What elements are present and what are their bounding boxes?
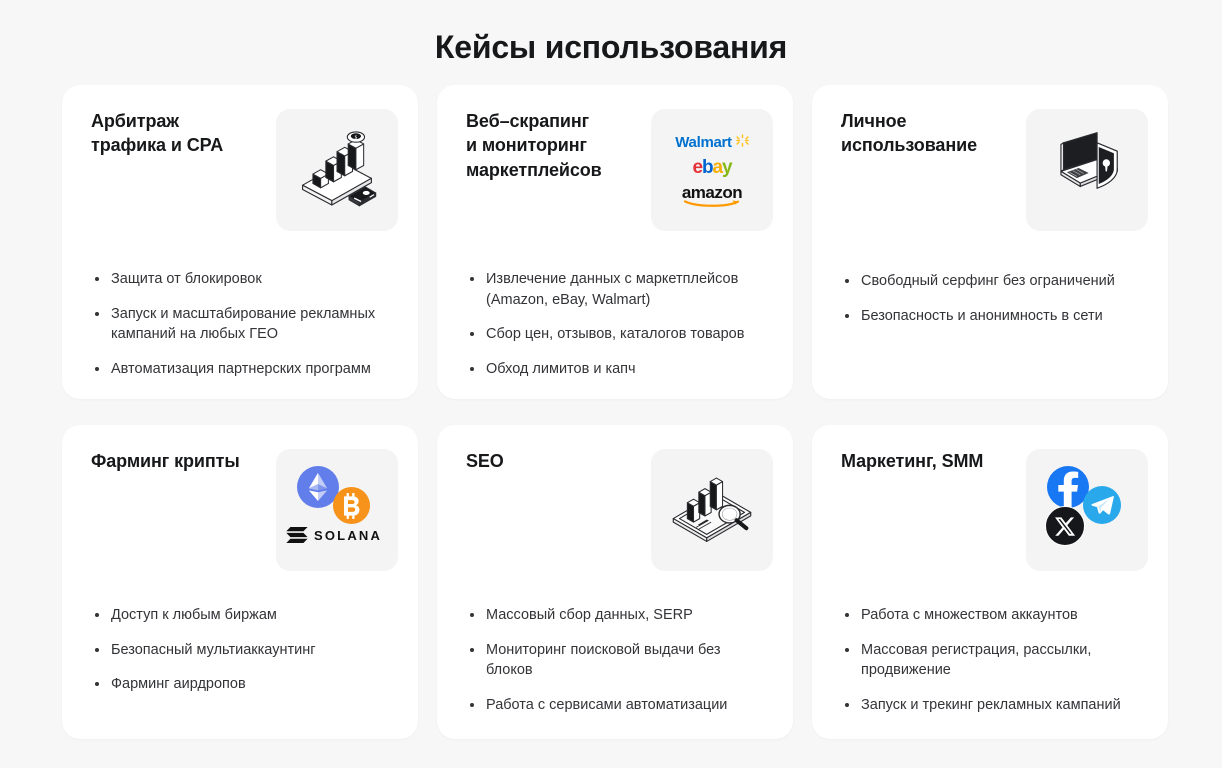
bullet-list-personal-use: Свободный серфинг без ограничений Безопа… [841, 271, 1144, 326]
card-title-line-1: SEO [466, 451, 504, 471]
ebay-letter-a: a [713, 157, 722, 178]
laptop-shield-lock-icon [1045, 126, 1129, 215]
list-item: Свободный серфинг без ограничений [841, 271, 1144, 292]
card-title-line-1: Фарминг крипты [91, 451, 240, 471]
ethereum-diamond-icon [307, 472, 329, 502]
card-title-seo: SEO [466, 449, 504, 473]
card-header: Веб–скрапинги мониторингмаркетплейсов Wa… [466, 109, 773, 241]
list-item: Мониторинг поисковой выдачи без блоков [466, 640, 769, 681]
x-logo-icon [1055, 516, 1076, 537]
card-header: Фарминг крипты [91, 449, 398, 581]
card-title-crypto-farming: Фарминг крипты [91, 449, 240, 473]
telegram-logo [1083, 486, 1121, 524]
amazon-logo: amazon [682, 184, 742, 207]
ebay-letter-e: e [693, 157, 702, 178]
list-item: Работа с сервисами автоматизации [466, 695, 769, 716]
svg-text:$: $ [355, 133, 358, 140]
ebay-logo: ebay [693, 157, 732, 179]
ebay-letter-b: b [702, 157, 713, 178]
list-item: Сбор цен, отзывов, каталогов товаров [466, 324, 769, 345]
isometric-bar-chart-coin-money-icon: $ [294, 125, 380, 216]
card-title-marketing-smm: Маркетинг, SMM [841, 449, 983, 473]
list-item: Запуск и масштабирование рекламных кампа… [91, 304, 394, 345]
bitcoin-b-icon [341, 493, 363, 519]
list-item: Массовый сбор данных, SERP [466, 605, 769, 626]
card-header: Личноеиспользование [841, 109, 1148, 241]
list-item: Фарминг аирдропов [91, 674, 394, 695]
icon-box-social [1026, 449, 1148, 571]
use-cases-page: Кейсы использования Арбитражтрафика и CP… [0, 0, 1222, 768]
card-title-line-1: Маркетинг, SMM [841, 451, 983, 471]
icon-box-personal-use [1026, 109, 1148, 231]
list-item: Обход лимитов и капч [466, 359, 769, 380]
card-header: Арбитражтрафика и CPA [91, 109, 398, 241]
bullet-list-crypto-farming: Доступ к любым биржам Безопасный мультиа… [91, 605, 394, 695]
icon-box-marketplaces: Walmart [651, 109, 773, 231]
bullet-list-arbitrage: Защита от блокировок Запуск и масштабиро… [91, 269, 394, 379]
card-title-line-1: Арбитраж [91, 111, 179, 131]
card-title-web-scraping: Веб–скрапинги мониторингмаркетплейсов [466, 109, 602, 182]
list-item: Извлечение данных с маркетплейсов (Amazo… [466, 269, 769, 310]
icon-box-crypto: SOLANA [276, 449, 398, 571]
card-header: Маркетинг, SMM [841, 449, 1148, 581]
list-item: Массовая регистрация, рассылки, продвиже… [841, 640, 1144, 681]
card-title-line-1: Веб–скрапинг [466, 111, 589, 131]
walmart-spark-icon [736, 134, 749, 152]
use-case-card-arbitrage-cpa[interactable]: Арбитражтрафика и CPA [62, 85, 418, 399]
card-title-line-2: трафика и CPA [91, 135, 223, 155]
bullet-list-marketing-smm: Работа с множеством аккаунтов Массовая р… [841, 605, 1144, 715]
use-case-card-grid: Арбитражтрафика и CPA [62, 85, 1162, 739]
icon-box-seo [651, 449, 773, 571]
card-title-arbitrage-cpa: Арбитражтрафика и CPA [91, 109, 223, 158]
card-header: SEO [466, 449, 773, 581]
solana-logo-text: SOLANA [314, 528, 382, 543]
isometric-bar-chart-magnifier-icon [668, 464, 756, 557]
list-item: Запуск и трекинг рекламных кампаний [841, 695, 1144, 716]
card-title-personal-use: Личноеиспользование [841, 109, 977, 158]
use-case-card-personal-use[interactable]: Личноеиспользование [812, 85, 1168, 399]
bullet-list-seo: Массовый сбор данных, SERP Мониторинг по… [466, 605, 769, 715]
walmart-logo: Walmart [675, 134, 749, 152]
solana-mark-icon [286, 526, 308, 544]
telegram-paper-plane-icon [1091, 495, 1114, 515]
list-item: Работа с множеством аккаунтов [841, 605, 1144, 626]
marketplace-logos-icon: Walmart [651, 134, 773, 207]
list-item: Автоматизация партнерских программ [91, 359, 394, 380]
bullet-list-web-scraping: Извлечение данных с маркетплейсов (Amazo… [466, 269, 769, 379]
list-item: Защита от блокировок [91, 269, 394, 290]
x-twitter-logo [1045, 506, 1085, 546]
card-title-line-2: использование [841, 135, 977, 155]
amazon-smile-icon [683, 199, 741, 208]
ebay-letter-y: y [722, 157, 731, 178]
use-case-card-crypto-farming[interactable]: Фарминг крипты [62, 425, 418, 739]
icon-box-arbitrage: $ [276, 109, 398, 231]
crypto-logos-icon: SOLANA [281, 454, 393, 566]
list-item: Безопасность и анонимность в сети [841, 306, 1144, 327]
walmart-logo-text: Walmart [675, 134, 732, 151]
solana-logo: SOLANA [286, 526, 382, 544]
bitcoin-logo [333, 487, 370, 524]
list-item: Доступ к любым биржам [91, 605, 394, 626]
use-case-card-seo[interactable]: SEO [437, 425, 793, 739]
social-logos-icon [1035, 458, 1139, 562]
use-case-card-web-scraping[interactable]: Веб–скрапинги мониторингмаркетплейсов Wa… [437, 85, 793, 399]
card-title-line-2: и мониторинг [466, 135, 587, 155]
list-item: Безопасный мультиаккаунтинг [91, 640, 394, 661]
card-title-line-1: Личное [841, 111, 906, 131]
use-case-card-marketing-smm[interactable]: Маркетинг, SMM [812, 425, 1168, 739]
page-title: Кейсы использования [0, 29, 1222, 66]
card-title-line-3: маркетплейсов [466, 160, 602, 180]
